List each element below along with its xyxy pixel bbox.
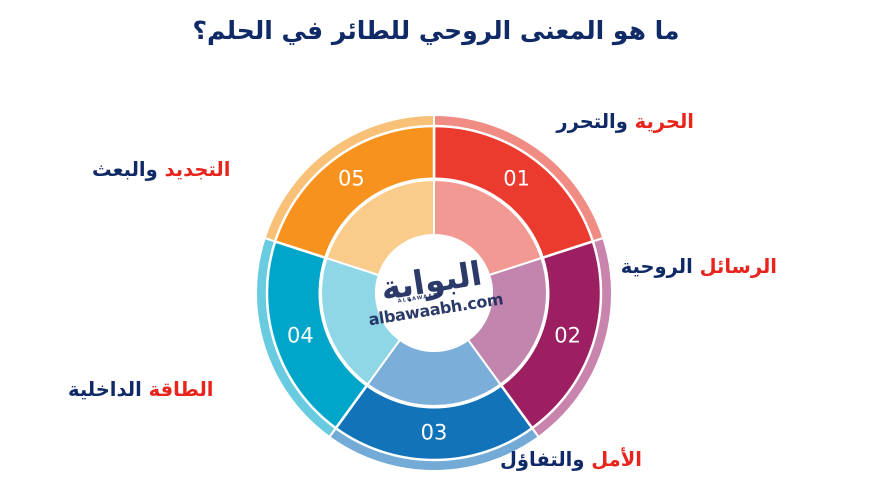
slice-label-03-rest: والتفاؤل [500, 448, 584, 471]
slice-label-05-rest: والبعث [92, 158, 158, 181]
slice-label-04: الطاقة الداخلية [68, 378, 213, 402]
slice-label-01-highlight: الحرية [635, 110, 694, 133]
slice-label-04-rest: الداخلية [68, 378, 142, 401]
segment-number-03: 03 [421, 421, 448, 445]
segment-number-01: 01 [503, 166, 530, 190]
segment-number-05: 05 [338, 166, 365, 190]
slice-label-01-rest: والتحرر [556, 110, 628, 133]
slice-label-05: التجديد والبعث [92, 158, 230, 182]
slice-label-03-highlight: الأمل [591, 448, 642, 471]
segment-number-04: 04 [287, 323, 314, 347]
slice-label-01: الحرية والتحرر [556, 110, 694, 134]
infographic-canvas: ما هو المعنى الروحي للطائر في الحلم؟ 010… [0, 0, 872, 502]
slice-label-04-highlight: الطاقة [149, 378, 214, 401]
slice-label-02: الرسائل الروحية [621, 255, 777, 279]
donut-chart-svg: 0102030405 [0, 0, 872, 502]
center-hole [376, 235, 492, 351]
slice-label-03: الأمل والتفاؤل [500, 448, 642, 472]
donut-chart: 0102030405 البوابة ALBAWAABH albawaabh.c… [0, 0, 872, 502]
slice-label-02-rest: الروحية [621, 255, 693, 278]
slice-label-05-highlight: التجديد [165, 158, 231, 181]
slice-label-02-highlight: الرسائل [700, 255, 777, 278]
segment-number-02: 02 [554, 323, 581, 347]
